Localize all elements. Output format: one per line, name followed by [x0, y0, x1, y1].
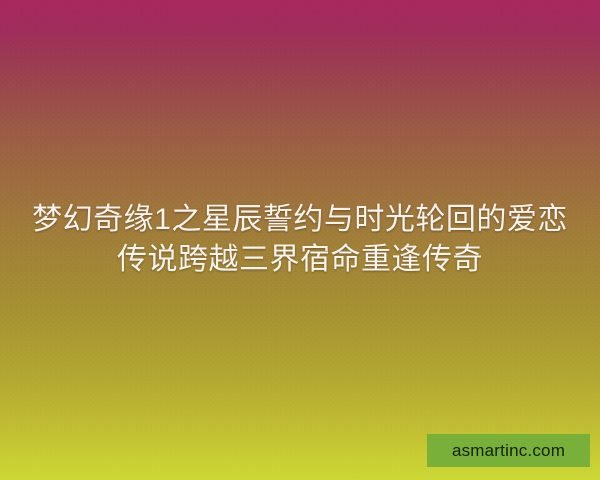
banner-title-block: 梦幻奇缘1之星辰誓约与时光轮回的爱恋传说跨越三界宿命重逢传奇 [0, 200, 600, 280]
banner-title: 梦幻奇缘1之星辰誓约与时光轮回的爱恋传说跨越三界宿命重逢传奇 [18, 200, 582, 280]
watermark-label: asmartinc.com [452, 442, 565, 459]
promo-banner: 梦幻奇缘1之星辰誓约与时光轮回的爱恋传说跨越三界宿命重逢传奇 asmartinc… [0, 0, 600, 480]
watermark-badge: asmartinc.com [427, 434, 590, 467]
